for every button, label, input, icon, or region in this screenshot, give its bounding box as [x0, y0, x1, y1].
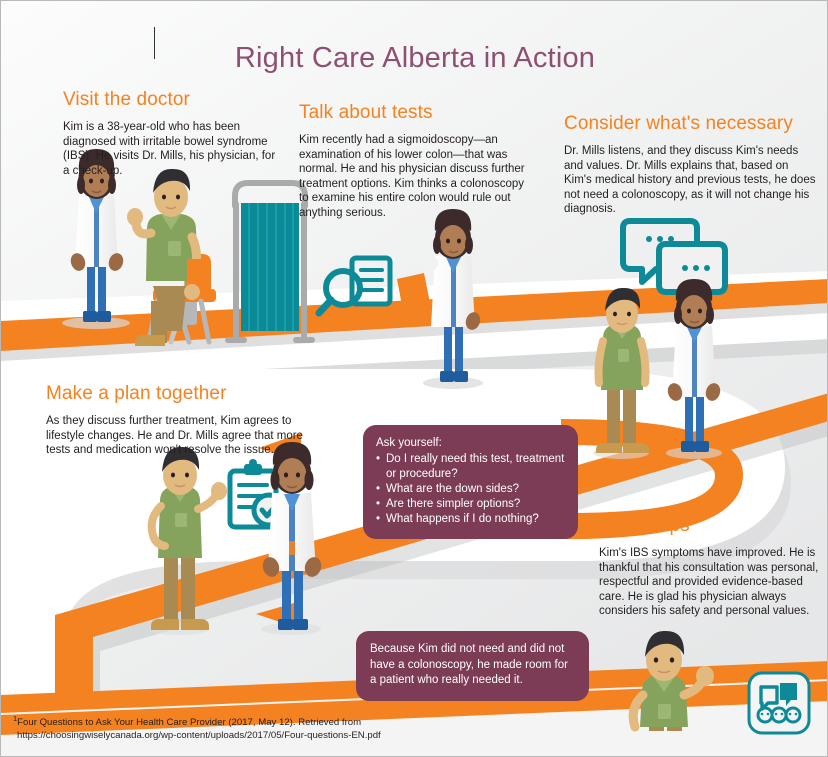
callout-made-room-text: Because Kim did not need and did not hav…: [370, 642, 575, 689]
callout-ask-list: Do I really need this test, treatment or…: [376, 452, 565, 527]
section-heading-visit: Visit the doctor: [63, 89, 278, 111]
section-body-plan: As they discuss further treatment, Kim a…: [46, 414, 328, 458]
right-care-logo-icon: [749, 673, 809, 733]
section-talk-about-tests: Talk about tests Kim recently had a sigm…: [299, 102, 527, 221]
scene-make-a-plan: [149, 442, 324, 635]
callout-ask-yourself: Ask yourself: Do I really need this test…: [363, 425, 578, 539]
footnote-url[interactable]: https://choosingwiselycanada.org/wp-cont…: [13, 729, 533, 742]
scene-consider-whats-necessary: [593, 221, 725, 459]
section-consider-whats-necessary: Consider what's necessary Dr. Mills list…: [564, 113, 816, 217]
scene-talk-about-tests: [319, 209, 483, 389]
callout-ask-item: What happens if I do nothing?: [376, 512, 565, 527]
infographic-poster: Right Care Alberta in Action Visit the d…: [0, 0, 828, 757]
section-heading-next: Next steps: [599, 515, 821, 537]
orange-arrow-left: [256, 433, 301, 629]
orange-wedge: [353, 583, 461, 607]
section-body-tests: Kim recently had a sigmoidoscopy—an exam…: [299, 133, 527, 221]
callout-ask-item: Are there simpler options?: [376, 497, 565, 512]
callout-made-room: Because Kim did not need and did not hav…: [356, 631, 589, 701]
figure-patient-sitting: [127, 169, 210, 346]
section-heading-consider: Consider what's necessary: [564, 113, 816, 135]
section-make-a-plan-together: Make a plan together As they discuss fur…: [46, 383, 328, 458]
walkway-upper: [1, 271, 828, 397]
page-title: Right Care Alberta in Action: [235, 42, 595, 75]
scene-next-steps: [633, 631, 714, 731]
callout-ask-title: Ask yourself:: [376, 436, 565, 451]
figure-patient-standing-1: [596, 288, 649, 453]
section-heading-plan: Make a plan together: [46, 383, 328, 405]
section-visit-the-doctor: Visit the doctor Kim is a 38-year-old wh…: [63, 89, 278, 178]
scene-visit-the-doctor: [62, 149, 315, 346]
magnifier-document-icon: [319, 258, 390, 313]
section-body-next: Kim's IBS symptoms have improved. He is …: [599, 546, 821, 619]
section-body-visit: Kim is a 38-year-old who has been diagno…: [63, 120, 278, 178]
callout-ask-item: Do I really need this test, treatment or…: [376, 452, 565, 482]
speech-bubbles-icon: [623, 221, 725, 305]
clipboard-check-icon: [230, 459, 284, 527]
footnote: 1Four Questions to Ask Your Health Care …: [13, 712, 533, 742]
callout-ask-item: What are the down sides?: [376, 482, 565, 497]
footnote-citation: Four Questions to Ask Your Health Care P…: [17, 717, 361, 728]
chair: [149, 254, 216, 342]
figure-patient-standing-2: [151, 447, 227, 630]
figure-doctor-3: [666, 279, 723, 452]
section-next-steps: Next steps Kim's IBS symptoms have impro…: [599, 515, 821, 619]
section-body-consider: Dr. Mills listens, and they discuss Kim'…: [564, 144, 816, 217]
figure-doctor-2: [397, 209, 482, 382]
text-cursor: [154, 27, 155, 59]
section-heading-tests: Talk about tests: [299, 102, 527, 124]
figure-doctor-4: [260, 442, 323, 630]
figure-patient-waving: [633, 631, 714, 731]
page-title-wrap: Right Care Alberta in Action: [1, 23, 828, 95]
orange-journey-path: [1, 279, 828, 361]
